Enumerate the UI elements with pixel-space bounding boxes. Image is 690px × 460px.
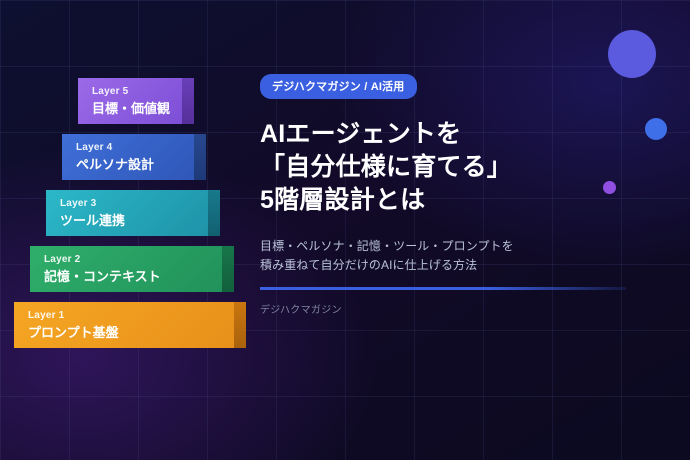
layer-4-label: Layer 4 <box>76 142 182 154</box>
graphic-canvas: Layer 5 目標・価値観 Layer 4 ペルソナ設計 Layer 3 ツー… <box>0 0 690 460</box>
subcopy-line-1: 目標・ペルソナ・記憶・ツール・プロンプトを <box>260 237 660 256</box>
layer-5-name: 目標・価値観 <box>92 100 170 117</box>
layer-3-side-face <box>208 190 220 236</box>
layer-2-name: 記憶・コンテキスト <box>44 268 210 285</box>
headline: AIエージェントを 「自分仕様に育てる」 5階層設計とは <box>260 118 660 217</box>
category-badge: デジハクマガジン / AI活用 <box>260 74 417 99</box>
accent-divider <box>260 287 626 290</box>
layer-1-side-face <box>234 302 246 348</box>
layer-4-side-face <box>194 134 206 180</box>
byline: デジハクマガジン <box>260 301 660 316</box>
pyramid-layer-5: Layer 5 目標・価値観 <box>78 78 182 124</box>
layer-3-name: ツール連携 <box>60 212 196 229</box>
layer-2-side-face <box>222 246 234 292</box>
pyramid-layer-4: Layer 4 ペルソナ設計 <box>62 134 194 180</box>
headline-line-2: 「自分仕様に育てる」 <box>260 151 660 184</box>
decorative-circle-large <box>608 30 656 78</box>
layer-5-label: Layer 5 <box>92 86 170 98</box>
pyramid-layer-2: Layer 2 記憶・コンテキスト <box>30 246 222 292</box>
pyramid-layer-3: Layer 3 ツール連携 <box>46 190 208 236</box>
layer-4-name: ペルソナ設計 <box>76 156 182 173</box>
layer-5-side-face <box>182 78 194 124</box>
subcopy: 目標・ペルソナ・記憶・ツール・プロンプトを 積み重ねて自分だけのAIに仕上げる方… <box>260 237 660 275</box>
headline-line-1: AIエージェントを <box>260 118 660 151</box>
headline-line-3: 5階層設計とは <box>260 184 660 217</box>
layer-pyramid-diagram: Layer 5 目標・価値観 Layer 4 ペルソナ設計 Layer 3 ツー… <box>0 78 245 348</box>
layer-1-name: プロンプト基盤 <box>28 324 222 341</box>
content-block: デジハクマガジン / AI活用 AIエージェントを 「自分仕様に育てる」 5階層… <box>260 74 660 316</box>
layer-2-label: Layer 2 <box>44 254 210 266</box>
layer-3-label: Layer 3 <box>60 198 196 210</box>
subcopy-line-2: 積み重ねて自分だけのAIに仕上げる方法 <box>260 256 660 275</box>
layer-1-label: Layer 1 <box>28 310 222 322</box>
pyramid-layer-1: Layer 1 プロンプト基盤 <box>14 302 234 348</box>
